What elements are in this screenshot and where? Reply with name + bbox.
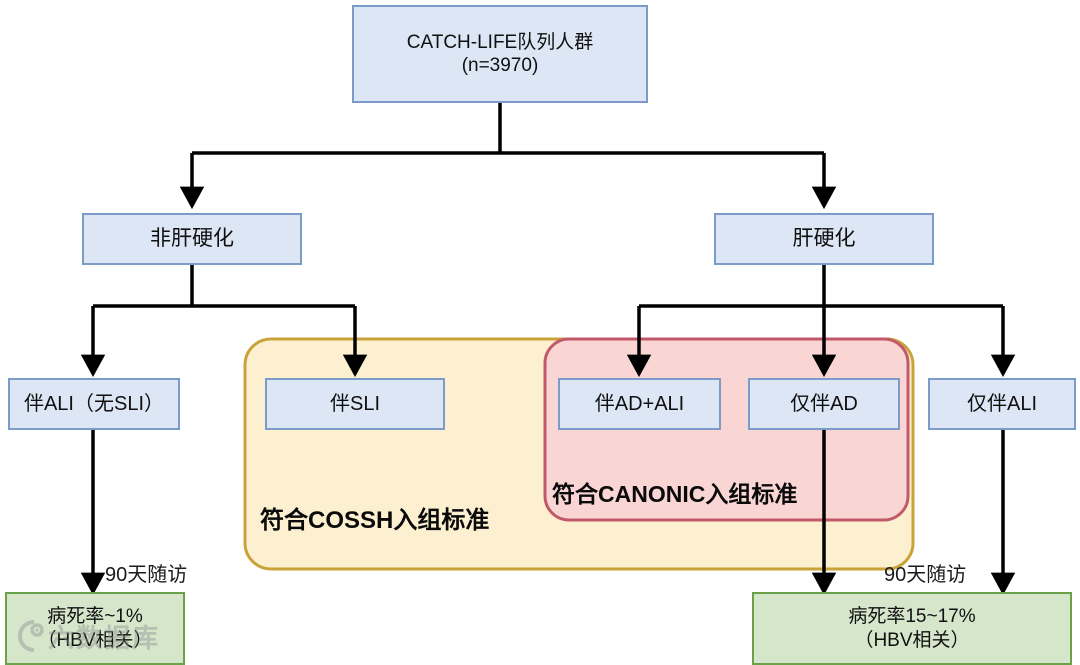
flowchart-canvas: CATCH-LIFE队列人群 (n=3970) 非肝硬化 肝硬化 伴ALI（无S… — [0, 0, 1080, 665]
region-label-canonic: 符合CANONIC入组标准 — [552, 475, 797, 509]
region-label-cossh: 符合COSSH入组标准 — [260, 500, 489, 535]
label-layer: 符合COSSH入组标准 符合CANONIC入组标准 90天随访 90天随访 — [0, 0, 1080, 665]
edge-label-followup-left: 90天随访 — [105, 558, 187, 587]
edge-label-followup-right: 90天随访 — [884, 558, 966, 587]
